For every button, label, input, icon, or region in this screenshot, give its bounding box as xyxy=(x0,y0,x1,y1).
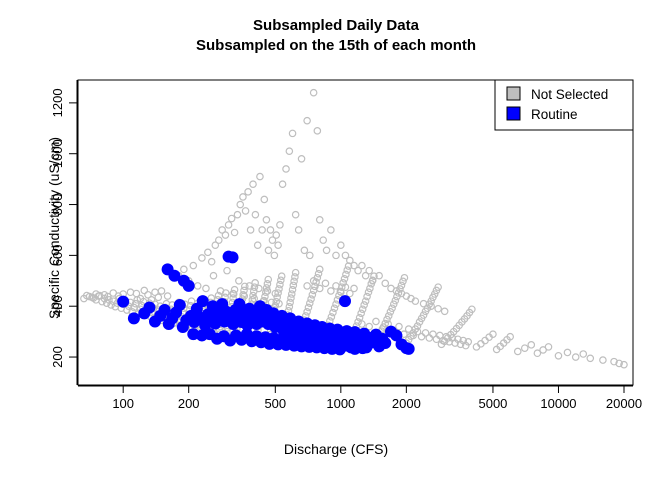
data-point xyxy=(265,247,271,253)
data-point xyxy=(305,304,311,310)
data-point xyxy=(435,306,441,312)
data-point xyxy=(234,212,240,218)
data-point xyxy=(522,345,528,351)
legend-label: Routine xyxy=(531,107,578,122)
data-point xyxy=(117,296,129,308)
data-point xyxy=(127,289,133,295)
data-point xyxy=(307,300,313,306)
data-point xyxy=(365,289,371,295)
data-point xyxy=(273,232,279,238)
data-point xyxy=(259,227,265,233)
data-point xyxy=(261,196,267,202)
data-point xyxy=(403,343,415,355)
data-point xyxy=(158,288,164,294)
x-axis-label: Discharge (CFS) xyxy=(0,441,672,457)
data-point xyxy=(323,247,329,253)
data-point xyxy=(237,201,243,207)
data-point xyxy=(331,305,337,311)
data-point xyxy=(441,308,447,314)
data-point xyxy=(328,227,334,233)
data-point xyxy=(320,237,326,243)
chart-canvas: Subsampled Daily Data Subsampled on the … xyxy=(0,0,672,480)
data-point xyxy=(283,166,289,172)
data-point xyxy=(257,173,263,179)
data-point xyxy=(271,252,277,258)
data-point xyxy=(308,296,314,302)
data-point xyxy=(275,242,281,248)
data-point xyxy=(295,227,301,233)
data-point xyxy=(141,287,147,293)
data-point xyxy=(360,341,372,353)
data-point xyxy=(328,288,334,294)
data-point xyxy=(231,229,237,235)
data-point xyxy=(188,298,194,304)
data-point xyxy=(333,252,339,258)
legend-box: Not SelectedRoutine xyxy=(495,80,633,130)
data-point xyxy=(247,227,253,233)
data-point xyxy=(279,273,285,279)
data-point xyxy=(210,273,216,279)
data-point xyxy=(128,312,140,324)
data-point xyxy=(528,342,534,348)
data-point xyxy=(339,295,351,307)
data-point xyxy=(315,270,321,276)
data-point xyxy=(164,293,170,299)
data-point xyxy=(286,148,292,154)
data-point xyxy=(301,247,307,253)
data-point xyxy=(292,269,298,275)
data-point xyxy=(359,262,365,268)
data-point xyxy=(208,259,214,265)
data-point xyxy=(373,318,379,324)
data-point xyxy=(178,275,190,287)
data-point xyxy=(382,280,388,286)
data-point xyxy=(341,276,347,282)
data-point xyxy=(265,276,271,282)
data-point xyxy=(396,323,402,329)
legend-swatch xyxy=(507,107,520,120)
series-not-selected xyxy=(81,90,627,368)
data-point xyxy=(279,181,285,187)
data-point xyxy=(361,302,367,308)
y-axis-label: Specific Conductivity (uS/cm) xyxy=(46,78,62,378)
data-point xyxy=(379,337,391,349)
data-point xyxy=(289,130,295,136)
data-point xyxy=(310,90,316,96)
data-point xyxy=(418,334,424,340)
x-axis-tick-label: 20000 xyxy=(606,396,642,411)
data-point xyxy=(307,252,313,258)
data-point xyxy=(555,353,561,359)
data-point xyxy=(573,354,579,360)
data-point xyxy=(228,215,234,221)
data-point xyxy=(405,326,411,332)
data-point xyxy=(255,242,261,248)
data-point xyxy=(236,278,242,284)
data-point xyxy=(564,349,570,355)
data-point xyxy=(231,286,237,292)
data-point xyxy=(245,189,251,195)
data-point xyxy=(358,310,364,316)
data-point xyxy=(181,266,187,272)
legend-label: Not Selected xyxy=(531,87,608,102)
data-point xyxy=(252,212,258,218)
data-point xyxy=(277,222,283,228)
data-point xyxy=(240,194,246,200)
data-point xyxy=(250,181,256,187)
data-point xyxy=(426,335,432,341)
data-point xyxy=(317,266,323,272)
data-point xyxy=(309,292,315,298)
data-point xyxy=(322,280,328,286)
data-point xyxy=(199,255,205,261)
data-point xyxy=(366,267,372,273)
data-point xyxy=(292,212,298,218)
data-point xyxy=(224,267,230,273)
data-point xyxy=(310,287,316,293)
data-point xyxy=(190,262,196,268)
data-point xyxy=(317,217,323,223)
x-axis-tick-label: 200 xyxy=(178,396,200,411)
data-point xyxy=(304,117,310,123)
data-point xyxy=(314,128,320,134)
x-axis-tick-label: 500 xyxy=(264,396,286,411)
data-point xyxy=(333,301,339,307)
data-point xyxy=(298,156,304,162)
data-point xyxy=(227,251,239,263)
scatter-plot-svg: 1002005001000200050001000020000200400600… xyxy=(0,0,672,480)
x-axis-tick-label: 1000 xyxy=(326,396,355,411)
data-point xyxy=(205,249,211,255)
data-point xyxy=(343,271,349,277)
data-point xyxy=(267,227,273,233)
x-axis-tick-label: 2000 xyxy=(392,396,421,411)
data-point xyxy=(338,242,344,248)
data-point xyxy=(515,348,521,354)
data-point xyxy=(256,285,262,291)
data-point xyxy=(351,285,357,291)
data-points-layer xyxy=(81,90,627,368)
data-point xyxy=(203,285,209,291)
data-point xyxy=(600,357,606,363)
data-point xyxy=(263,217,269,223)
data-point xyxy=(355,319,361,325)
x-axis-tick-label: 10000 xyxy=(540,396,576,411)
data-point xyxy=(545,344,551,350)
data-point xyxy=(344,267,350,273)
data-point xyxy=(304,283,310,289)
x-axis-tick-label: 5000 xyxy=(478,396,507,411)
data-point xyxy=(222,232,228,238)
data-point xyxy=(242,208,248,214)
data-point xyxy=(155,294,161,300)
data-point xyxy=(225,222,231,228)
data-point xyxy=(359,306,365,312)
data-point xyxy=(304,309,310,315)
data-point xyxy=(195,283,201,289)
data-point xyxy=(174,299,186,311)
data-point xyxy=(587,355,593,361)
x-axis-tick-label: 100 xyxy=(112,396,134,411)
data-point xyxy=(143,301,155,313)
data-point xyxy=(328,314,334,320)
data-point xyxy=(580,351,586,357)
data-point xyxy=(216,237,222,243)
legend-swatch xyxy=(507,87,520,100)
